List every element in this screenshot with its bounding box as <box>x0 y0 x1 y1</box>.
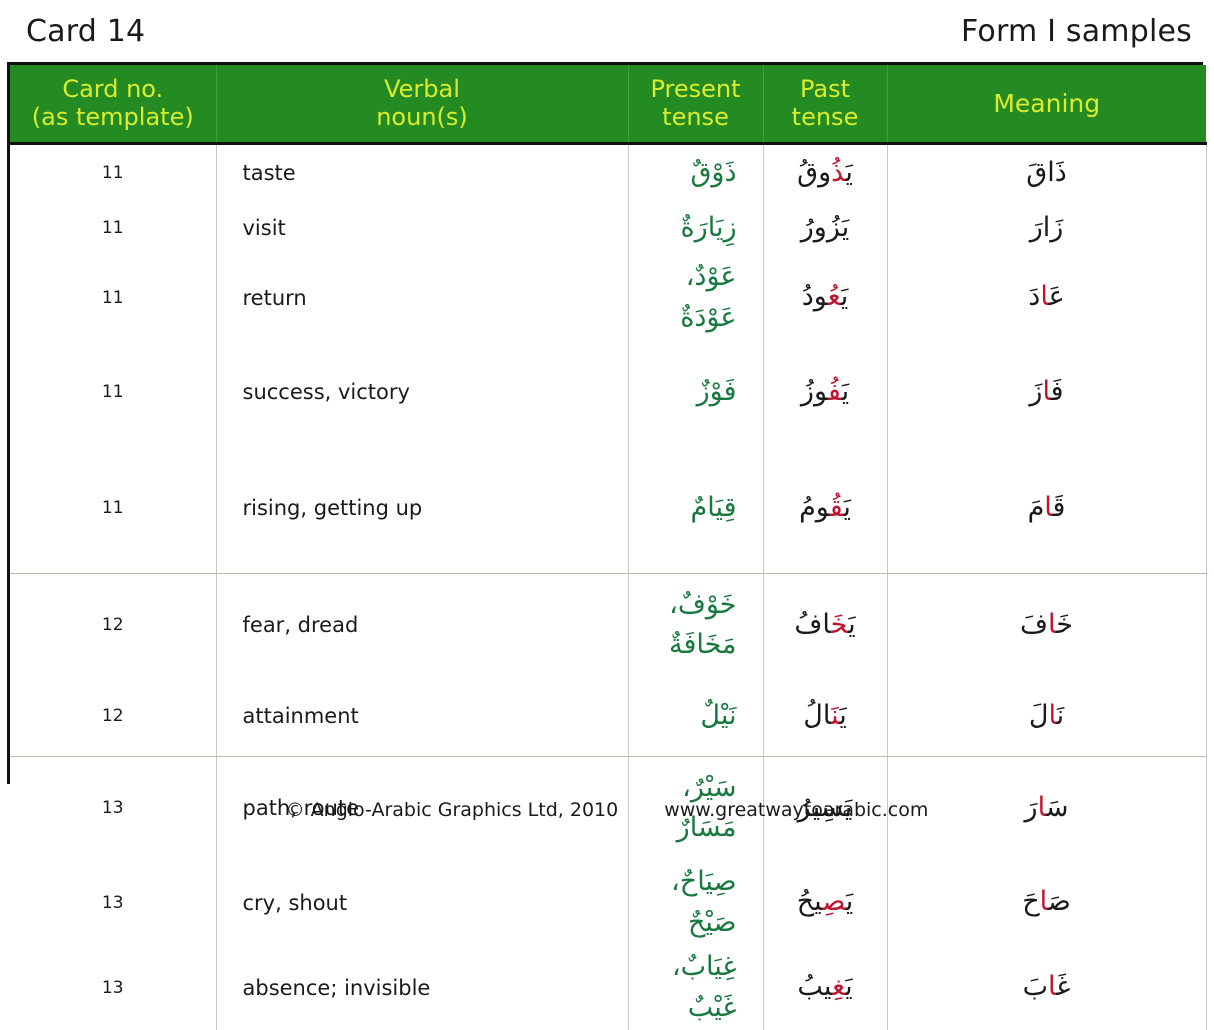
column-header-verbal-noun-line2: noun(s) <box>221 103 624 131</box>
cell-present-tense: يَنَالُ <box>763 677 887 756</box>
table-header-row: Card no. (as template) Verbal noun(s) Pr… <box>10 65 1206 143</box>
cell-english-gloss: cry, shout <box>216 860 628 945</box>
cell-card-no: 11 <box>10 201 216 255</box>
root-letter-highlight: خ <box>831 609 848 640</box>
cell-verbal-noun: زِيَارَةٌ <box>628 201 763 255</box>
cell-past-tense: صَاحَ <box>887 860 1206 945</box>
cell-english-gloss: attainment <box>216 677 628 756</box>
column-header-verbal-noun: Verbal noun(s) <box>216 65 628 143</box>
cell-verbal-noun: عَوْدٌ، عَوْدَةٌ <box>628 255 763 340</box>
verb-table: Card no. (as template) Verbal noun(s) Pr… <box>10 65 1206 1030</box>
page-header: Card 14 Form I samples <box>0 0 1214 62</box>
root-letter-highlight: ا <box>1042 376 1050 407</box>
column-header-meaning-line1: Meaning <box>892 89 1203 119</box>
cell-english-gloss: taste <box>216 143 628 201</box>
table-row: 13absence; invisibleغِيَابٌ، غَيْبٌيَغِي… <box>10 945 1206 1030</box>
cell-verbal-noun: ذَوْقٌ <box>628 143 763 201</box>
cell-past-tense: زَارَ <box>887 201 1206 255</box>
cell-card-no: 11 <box>10 255 216 340</box>
cell-verbal-noun: فَوْزٌ <box>628 340 763 444</box>
cell-present-tense: يَقُومُ <box>763 444 887 573</box>
table-row: 12fear, dreadخَوْفٌ، مَخَافَةٌيَخَافُخَا… <box>10 573 1206 677</box>
table-row: 11visitزِيَارَةٌيَزُورُزَارَHe visited <box>10 201 1206 255</box>
cell-card-no: 11 <box>10 143 216 201</box>
cell-card-no: 12 <box>10 677 216 756</box>
table-row: 13cry, shoutصِيَاحٌ، صَيْحٌيَصِيحُصَاحَH… <box>10 860 1206 945</box>
cell-past-tense: نَالَ <box>887 677 1206 756</box>
root-letter-highlight: ع <box>828 281 841 312</box>
root-letter-highlight: ا <box>1048 700 1056 731</box>
root-letter-highlight: ف <box>828 376 842 407</box>
website-link[interactable]: www.greatwaytoarabic.com <box>664 799 928 821</box>
cell-verbal-noun: نَيْلٌ <box>628 677 763 756</box>
root-letter-highlight: ذ <box>831 157 845 188</box>
cell-present-tense: يَفُوزُ <box>763 340 887 444</box>
column-header-meaning: Meaning <box>887 65 1206 143</box>
cell-english-gloss: fear, dread <box>216 573 628 677</box>
table-body: 11tasteذَوْقٌيَذُوقُذَاقَHe tasted11visi… <box>10 143 1206 1030</box>
cell-card-no: 12 <box>10 573 216 677</box>
column-header-card-no-line1: Card no. <box>14 75 212 103</box>
column-header-verbal-noun-line1: Verbal <box>221 75 624 103</box>
cell-present-tense: يَغِيبُ <box>763 945 887 1030</box>
cell-past-tense: غَابَ <box>887 945 1206 1030</box>
cell-present-tense: يَصِيحُ <box>763 860 887 945</box>
root-letter-highlight: ا <box>1040 886 1048 917</box>
root-letter-highlight: ص <box>822 886 845 917</box>
root-letter-highlight: ا <box>1048 609 1056 640</box>
column-header-past-tense-line1: Past <box>768 75 883 103</box>
cell-past-tense: ذَاقَ <box>887 143 1206 201</box>
cell-past-tense: فَازَ <box>887 340 1206 444</box>
cell-present-tense: يَذُوقُ <box>763 143 887 201</box>
column-header-card-no: Card no. (as template) <box>10 65 216 143</box>
column-header-present-tense-line1: Present <box>633 75 759 103</box>
root-letter-highlight: ا <box>1044 492 1052 523</box>
cell-verbal-noun: صِيَاحٌ، صَيْحٌ <box>628 860 763 945</box>
cell-english-gloss: absence; invisible <box>216 945 628 1030</box>
cell-verbal-noun: غِيَابٌ، غَيْبٌ <box>628 945 763 1030</box>
cell-card-no: 13 <box>10 860 216 945</box>
form-subtitle: Form I samples <box>961 14 1192 49</box>
root-letter-highlight: ا <box>1048 971 1056 1002</box>
cell-english-gloss: rising, getting up <box>216 444 628 573</box>
cell-english-gloss: visit <box>216 201 628 255</box>
cell-english-gloss: return <box>216 255 628 340</box>
cell-english-gloss: success, victory <box>216 340 628 444</box>
root-letter-highlight: ق <box>830 492 844 523</box>
column-header-present-tense: Present tense <box>628 65 763 143</box>
card-title: Card 14 <box>26 14 145 49</box>
cell-past-tense: عَادَ <box>887 255 1206 340</box>
root-letter-highlight: ا <box>1040 281 1048 312</box>
table-row: 11tasteذَوْقٌيَذُوقُذَاقَHe tasted <box>10 143 1206 201</box>
cell-past-tense: خَافَ <box>887 573 1206 677</box>
column-header-card-no-line2: (as template) <box>14 103 212 131</box>
verb-table-container: Card no. (as template) Verbal noun(s) Pr… <box>7 62 1203 784</box>
column-header-present-tense-line2: tense <box>633 103 759 131</box>
cell-verbal-noun: قِيَامٌ <box>628 444 763 573</box>
copyright-text: © Anglo-Arabic Graphics Ltd, 2010 <box>286 799 619 821</box>
page-footer: © Anglo-Arabic Graphics Ltd, 2010 www.gr… <box>0 788 1214 832</box>
table-row: 11rising, getting upقِيَامٌيَقُومُقَامَH… <box>10 444 1206 573</box>
cell-present-tense: يَزُورُ <box>763 201 887 255</box>
table-row: 11success, victoryفَوْزٌيَفُوزُفَازَHe w… <box>10 340 1206 444</box>
table-row: 11returnعَوْدٌ، عَوْدَةٌيَعُودُعَادَHe r… <box>10 255 1206 340</box>
column-header-past-tense: Past tense <box>763 65 887 143</box>
cell-present-tense: يَخَافُ <box>763 573 887 677</box>
cell-past-tense: قَامَ <box>887 444 1206 573</box>
table-row: 12attainmentنَيْلٌيَنَالُنَالَHe attaine… <box>10 677 1206 756</box>
cell-card-no: 11 <box>10 444 216 573</box>
cell-card-no: 13 <box>10 945 216 1030</box>
root-letter-highlight: ن <box>831 700 839 731</box>
column-header-past-tense-line2: tense <box>768 103 883 131</box>
root-letter-highlight: غ <box>832 971 845 1002</box>
cell-card-no: 11 <box>10 340 216 444</box>
cell-present-tense: يَعُودُ <box>763 255 887 340</box>
cell-verbal-noun: خَوْفٌ، مَخَافَةٌ <box>628 573 763 677</box>
